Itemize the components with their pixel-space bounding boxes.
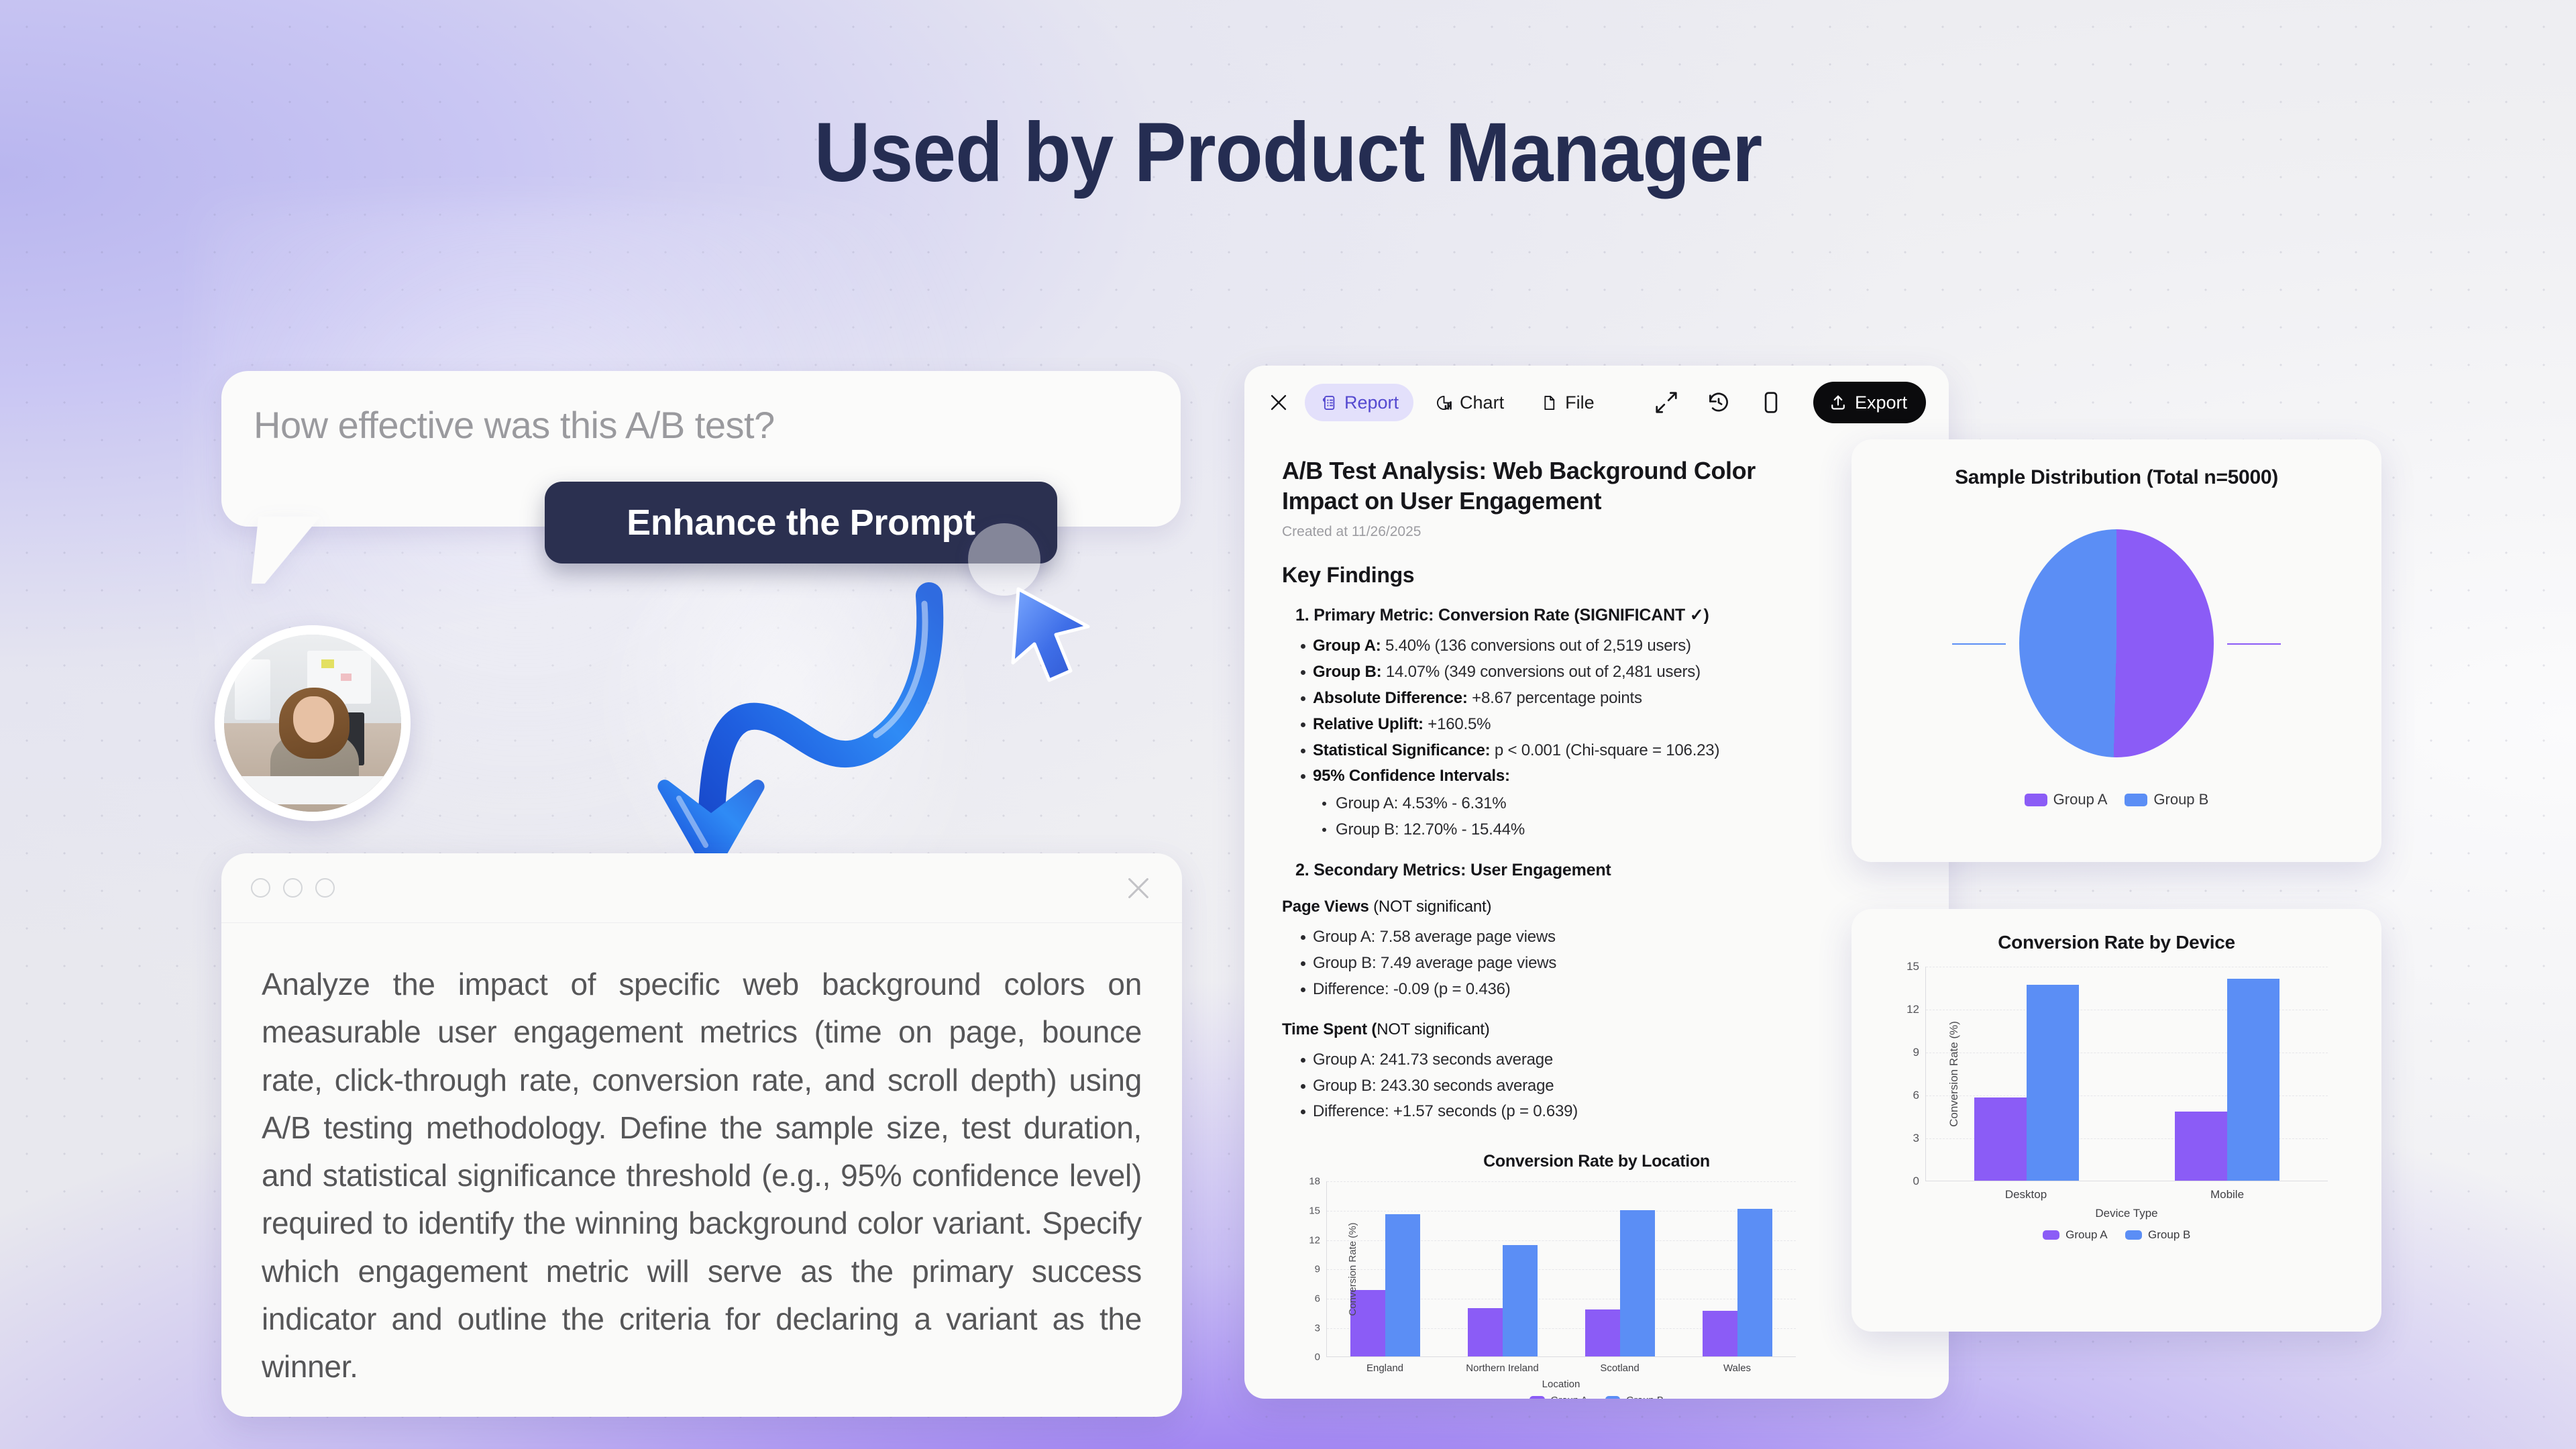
bar-group xyxy=(1327,1181,1444,1356)
legend-item-group-b: Group B xyxy=(2125,791,2208,808)
list-item: Group A: 7.58 average page views xyxy=(1282,924,1911,951)
list-item: Difference: +1.57 seconds (p = 0.639) xyxy=(1282,1099,1911,1125)
list-item: Relative Uplift: +160.5% xyxy=(1282,712,1911,738)
mobile-preview-icon[interactable] xyxy=(1758,390,1784,415)
page-views-list: Group A: 7.58 average page views Group B… xyxy=(1282,924,1911,1003)
legend-label: Group A xyxy=(2065,1228,2107,1242)
bar-group-b xyxy=(2027,985,2079,1181)
legend-item-group-a: Group A xyxy=(2043,1228,2108,1242)
section-1-heading: 1. Primary Metric: Conversion Rate (SIGN… xyxy=(1282,605,1911,625)
prompt-text: Analyze the impact of specific web backg… xyxy=(221,923,1182,1391)
section-2-heading: 2. Secondary Metrics: User Engagement xyxy=(1282,861,1911,880)
chart-legend: Group AGroup B xyxy=(1851,1228,2381,1242)
list-item: Group B: 14.07% (349 conversions out of … xyxy=(1282,659,1911,686)
list-item: Group B: 12.70% - 15.44% xyxy=(1282,817,1911,843)
plot-area: 0369121518 xyxy=(1326,1181,1796,1357)
y-axis-tick: 9 xyxy=(1913,1046,1926,1059)
section-1-list: Group A: 5.40% (136 conversions out of 2… xyxy=(1282,633,1911,790)
bar-group xyxy=(1678,1181,1796,1356)
legend-item-group-a: Group A xyxy=(2025,791,2108,808)
device-conversion-card: Conversion Rate by Device 03691215Conver… xyxy=(1851,909,2381,1332)
y-axis-tick: 18 xyxy=(1309,1176,1327,1187)
x-axis-tick: Wales xyxy=(1678,1362,1796,1374)
x-axis-label: Device Type xyxy=(1925,1207,2328,1220)
x-axis-tick: Scotland xyxy=(1561,1362,1678,1374)
pie-legend: Group A Group B xyxy=(1851,791,2381,808)
decorative-squiggle-arrow-icon xyxy=(510,577,979,899)
legend-label: Group A xyxy=(1551,1395,1588,1399)
time-spent-heading: Time Spent (NOT significant) xyxy=(1282,1020,1911,1039)
bar-group xyxy=(2127,967,2328,1181)
pie-leader-line-b xyxy=(1952,643,2006,645)
legend-item-group-a: Group A xyxy=(1529,1395,1588,1399)
tab-report-label: Report xyxy=(1344,392,1399,413)
tab-chart[interactable]: Chart xyxy=(1420,384,1519,421)
x-axis-labels: EnglandNorthern IrelandScotlandWales xyxy=(1326,1362,1796,1374)
location-chart-title: Conversion Rate by Location xyxy=(1282,1152,1911,1171)
confidence-interval-list: Group A: 4.53% - 6.31% Group B: 12.70% -… xyxy=(1282,791,1911,843)
bar-group-a xyxy=(1585,1309,1620,1357)
x-axis-tick: Northern Ireland xyxy=(1444,1362,1561,1374)
window-dots xyxy=(251,878,335,898)
close-icon[interactable] xyxy=(1267,391,1290,414)
legend-item-group-b: Group B xyxy=(2125,1228,2191,1242)
bars-container xyxy=(1327,1181,1796,1356)
y-axis-label: Conversion Rate (%) xyxy=(1347,1223,1358,1316)
pie-leader-line-a xyxy=(2227,643,2281,645)
question-text: How effective was this A/B test? xyxy=(254,403,775,447)
pie-chart xyxy=(1851,496,2381,791)
upload-icon xyxy=(1829,393,1847,412)
device-chart-title: Conversion Rate by Device xyxy=(1851,932,2381,953)
sample-distribution-card: Sample Distribution (Total n=5000) Group… xyxy=(1851,439,2381,862)
y-axis-tick: 3 xyxy=(1315,1322,1327,1334)
y-axis-label: Conversion Rate (%) xyxy=(1947,1021,1961,1127)
bar-group-a xyxy=(2175,1112,2227,1181)
legend-swatch-group-b xyxy=(2125,794,2147,806)
tab-file-label: File xyxy=(1565,392,1595,413)
chart-legend: Group AGroup B xyxy=(1282,1395,1911,1399)
export-button[interactable]: Export xyxy=(1813,382,1926,423)
list-item: Difference: -0.09 (p = 0.436) xyxy=(1282,977,1911,1003)
y-axis-tick: 12 xyxy=(1907,1003,1926,1016)
window-dot-close[interactable] xyxy=(251,878,270,898)
y-axis-tick: 6 xyxy=(1315,1293,1327,1304)
report-content: A/B Test Analysis: Web Background Color … xyxy=(1244,439,1949,1399)
list-item: Group B: 7.49 average page views xyxy=(1282,951,1911,977)
x-axis-tick: England xyxy=(1326,1362,1444,1374)
mouse-cursor-icon xyxy=(1006,585,1100,692)
avatar-photo xyxy=(224,635,401,812)
report-icon xyxy=(1320,394,1338,412)
y-axis-tick: 0 xyxy=(1315,1352,1327,1363)
bars-container xyxy=(1926,967,2328,1181)
close-icon[interactable] xyxy=(1123,873,1154,904)
legend-swatch xyxy=(1529,1396,1545,1399)
legend-swatch xyxy=(2125,1230,2143,1240)
bar-group-b xyxy=(1737,1209,1772,1356)
prompt-card: Analyze the impact of specific web backg… xyxy=(221,853,1182,1417)
list-item: Absolute Difference: +8.67 percentage po… xyxy=(1282,686,1911,712)
legend-swatch xyxy=(2043,1230,2060,1240)
bar-group-b xyxy=(1385,1214,1420,1357)
legend-swatch-group-a xyxy=(2025,794,2047,806)
bar-group-a xyxy=(1974,1097,2027,1181)
y-axis-tick: 0 xyxy=(1913,1175,1926,1188)
bar-group xyxy=(1444,1181,1562,1356)
x-axis-tick: Desktop xyxy=(1925,1188,2127,1201)
legend-swatch xyxy=(1605,1396,1621,1399)
chart-icon xyxy=(1435,394,1453,412)
avatar xyxy=(215,625,411,821)
expand-icon[interactable] xyxy=(1654,390,1679,415)
bar-group-b xyxy=(2227,979,2279,1181)
y-axis-tick: 12 xyxy=(1309,1234,1327,1246)
list-item: Group A: 5.40% (136 conversions out of 2… xyxy=(1282,633,1911,659)
speech-bubble-tail xyxy=(252,517,321,584)
legend-label: Group B xyxy=(2148,1228,2190,1242)
file-icon xyxy=(1540,394,1558,412)
bar-group-a xyxy=(1703,1311,1737,1356)
report-toolbar: Report Chart File xyxy=(1244,366,1949,439)
tab-report[interactable]: Report xyxy=(1305,384,1413,421)
tab-file[interactable]: File xyxy=(1525,384,1609,421)
x-axis-tick: Mobile xyxy=(2127,1188,2328,1201)
x-axis-labels: DesktopMobile xyxy=(1925,1188,2328,1201)
key-findings-heading: Key Findings xyxy=(1282,563,1911,588)
page-views-heading: Page Views (NOT significant) xyxy=(1282,898,1911,916)
prompt-card-titlebar xyxy=(221,853,1182,923)
pie-shape xyxy=(2019,529,2214,757)
list-item: Group A: 4.53% - 6.31% xyxy=(1282,791,1911,817)
export-label: Export xyxy=(1855,392,1907,413)
y-axis-tick: 6 xyxy=(1913,1089,1926,1102)
bar-group-b xyxy=(1620,1210,1655,1356)
legend-item-group-b: Group B xyxy=(1605,1395,1664,1399)
device-bar-chart: 03691215Conversion Rate (%)DesktopMobile… xyxy=(1851,953,2381,1269)
window-dot-minimize[interactable] xyxy=(283,878,303,898)
list-item: Group B: 243.30 seconds average xyxy=(1282,1073,1911,1099)
page-title: Used by Product Manager xyxy=(90,111,2485,195)
tab-chart-label: Chart xyxy=(1460,392,1504,413)
bar-group-a xyxy=(1468,1308,1503,1356)
location-bar-chart: Conversion Rate by Location 0369121518Co… xyxy=(1282,1152,1911,1399)
bar-group xyxy=(1562,1181,1679,1356)
legend-label-group-b: Group B xyxy=(2153,791,2208,808)
report-created-at: Created at 11/26/2025 xyxy=(1282,524,1911,540)
pie-chart-title: Sample Distribution (Total n=5000) xyxy=(1851,466,2381,489)
bar-group-b xyxy=(1503,1245,1538,1356)
y-axis-tick: 15 xyxy=(1309,1205,1327,1216)
list-item: Group A: 241.73 seconds average xyxy=(1282,1047,1911,1073)
list-item: Statistical Significance: p < 0.001 (Chi… xyxy=(1282,738,1911,764)
report-panel: Report Chart File xyxy=(1244,366,1949,1399)
window-dot-maximize[interactable] xyxy=(315,878,335,898)
y-axis-tick: 3 xyxy=(1913,1132,1926,1145)
x-axis-label: Location xyxy=(1326,1379,1796,1390)
y-axis-tick: 15 xyxy=(1907,960,1926,973)
enhance-prompt-label: Enhance the Prompt xyxy=(627,502,975,543)
legend-label-group-a: Group A xyxy=(2053,791,2108,808)
history-icon[interactable] xyxy=(1706,390,1731,415)
legend-label: Group B xyxy=(1626,1395,1664,1399)
plot-area: 03691215 xyxy=(1925,967,2328,1181)
list-item: 95% Confidence Intervals: xyxy=(1282,763,1911,790)
y-axis-tick: 9 xyxy=(1315,1264,1327,1275)
report-title: A/B Test Analysis: Web Background Color … xyxy=(1282,455,1819,516)
time-spent-list: Group A: 241.73 seconds average Group B:… xyxy=(1282,1047,1911,1126)
